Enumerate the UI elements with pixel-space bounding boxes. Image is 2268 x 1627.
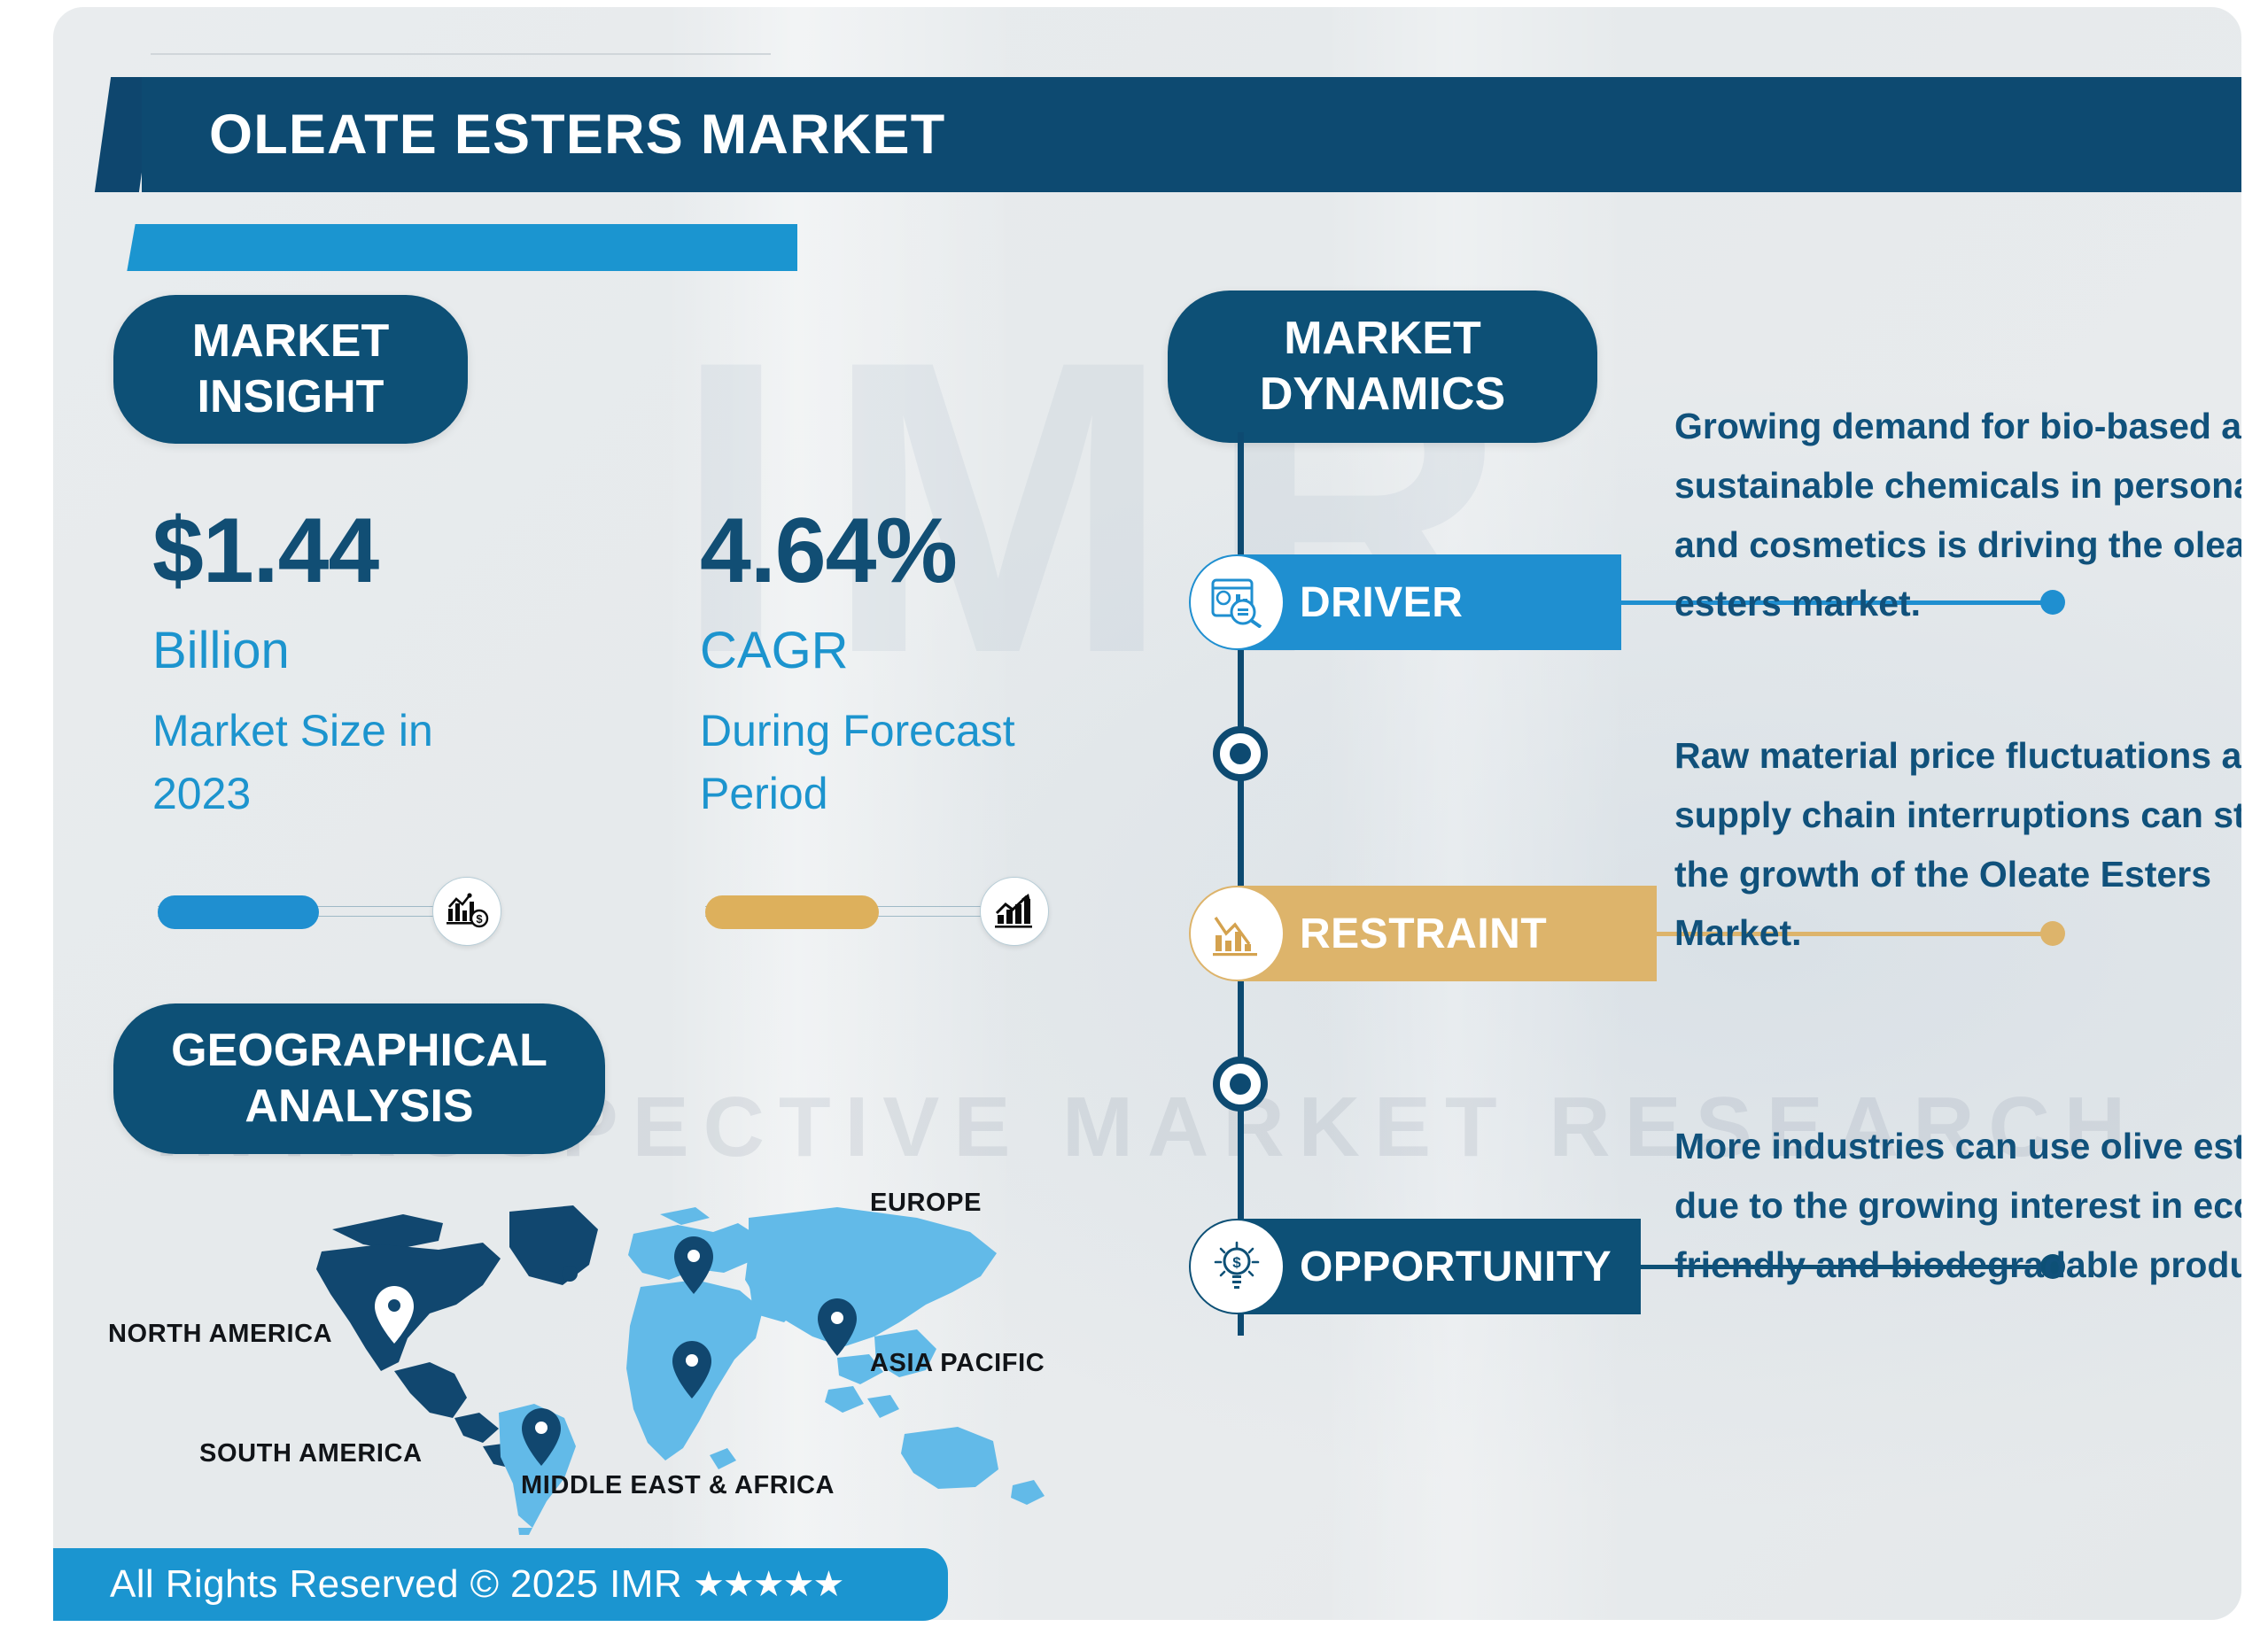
map-label-north-america: NORTH AMERICA [108, 1320, 332, 1349]
page-title-bar: OLEATE ESTERS MARKET [142, 77, 2241, 192]
map-label-middle-east-africa: MIDDLE EAST & AFRICA [521, 1471, 835, 1500]
lightbulb-dollar-icon: $ [1191, 1220, 1283, 1313]
restraint-description: Raw material price fluctuations andsuppl… [1674, 726, 2241, 963]
driver-label: DRIVER [1300, 578, 1463, 627]
cagr-progress-track [705, 906, 1015, 917]
opportunity-description: More industries can use olive estersdue … [1674, 1117, 2241, 1294]
timeline-node-1 [1213, 726, 1268, 781]
map-label-asia-pacific: ASIA PACIFIC [870, 1349, 1045, 1378]
market-size-caption: Market Size in 2023 [152, 700, 533, 825]
opportunity-label: OPPORTUNITY [1300, 1243, 1612, 1291]
footer-star-rating: ★★★★★ [693, 1564, 843, 1605]
map-region-antarctica [501, 1526, 837, 1535]
market-size-progress-track [158, 906, 468, 917]
infographic-card: IMR INTROSPECTIVE MARKET RESEARCH OLEATE… [53, 7, 2241, 1620]
market-size-unit: Billion [152, 623, 533, 680]
svg-text:$: $ [476, 912, 483, 926]
timeline-node-2 [1213, 1057, 1268, 1112]
header-hairline [151, 53, 771, 55]
cagr-caption: During Forecast Period [700, 700, 1081, 825]
driver-description: Growing demand for bio-based andsustaina… [1674, 397, 2241, 633]
bar-chart-dollar-icon: $ [432, 877, 501, 946]
cagr-unit: CAGR [700, 623, 1081, 680]
declining-bar-chart-icon [1191, 887, 1283, 980]
geographical-analysis-pill: GEOGRAPHICALANALYSIS [113, 1003, 605, 1154]
growth-arrow-chart-icon [980, 877, 1049, 946]
market-size-metric: $1.44 Billion Market Size in 2023 [152, 503, 533, 825]
svg-text:$: $ [1232, 1254, 1241, 1271]
market-insight-pill: MARKETINSIGHT [113, 295, 468, 444]
market-insight-pill-label: MARKETINSIGHT [192, 314, 389, 426]
restraint-label: RESTRAINT [1300, 910, 1547, 958]
infographic-root: IMR INTROSPECTIVE MARKET RESEARCH OLEATE… [0, 0, 2268, 1627]
market-dynamics-pill: MARKETDYNAMICS [1168, 291, 1597, 443]
map-region-middle-east-africa [626, 1280, 800, 1469]
map-label-europe: EUROPE [870, 1189, 982, 1218]
cagr-progress [705, 893, 1015, 930]
cagr-value: 4.64% [700, 503, 1081, 600]
cagr-progress-fill [705, 895, 879, 929]
report-magnifier-icon [1191, 556, 1283, 648]
cagr-metric: 4.64% CAGR During Forecast Period [700, 503, 1081, 825]
map-pin-asia-pacific [818, 1298, 857, 1356]
page-title: OLEATE ESTERS MARKET [209, 103, 945, 167]
geographical-analysis-pill-label: GEOGRAPHICALANALYSIS [171, 1023, 548, 1135]
map-region-oceania [901, 1427, 1045, 1505]
map-label-south-america: SOUTH AMERICA [199, 1439, 423, 1468]
footer-copyright: All Rights Reserved © 2025 IMR [110, 1562, 682, 1607]
market-dynamics-pill-label: MARKETDYNAMICS [1260, 311, 1505, 423]
market-size-progress-fill [158, 895, 319, 929]
footer-bar: All Rights Reserved © 2025 IMR ★★★★★ [53, 1548, 948, 1621]
market-size-progress: $ [158, 893, 468, 930]
market-size-value: $1.44 [152, 503, 533, 600]
title-underline [151, 224, 797, 271]
